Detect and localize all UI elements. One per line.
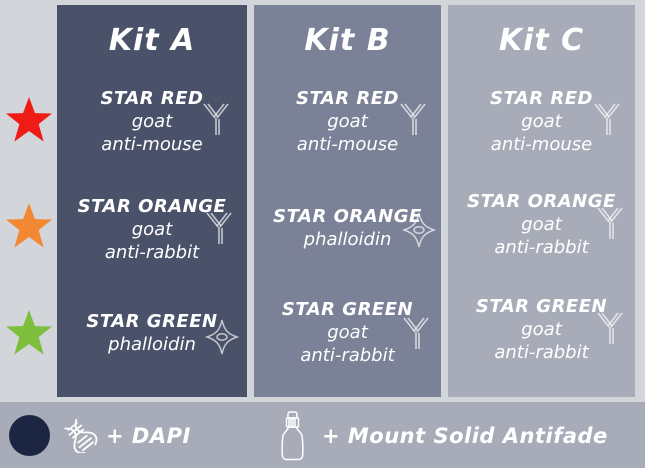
kit-b-title: Kit B [254, 23, 441, 58]
footer-bar: + DAPI + Mount Solid Antifade [0, 402, 645, 468]
kit-column-a[interactable]: Kit A STAR RED goat anti-mouse STAR ORAN… [57, 5, 247, 397]
antibody-icon [199, 101, 233, 139]
antibody-icon [396, 101, 430, 139]
antibody-icon [593, 310, 627, 348]
antibody-icon [590, 101, 624, 139]
dna-helix-icon [62, 419, 98, 453]
phalloidin-icon [205, 318, 239, 356]
star-green-marker [6, 310, 52, 356]
nucleus-dot-icon [9, 415, 50, 456]
phalloidin-icon [402, 211, 436, 249]
kit-comparison-figure: Kit A STAR RED goat anti-mouse STAR ORAN… [0, 0, 645, 468]
antibody-icon [399, 315, 433, 353]
antibody-icon [202, 210, 236, 248]
dropper-bottle-icon [276, 410, 309, 462]
antibody-icon [593, 205, 627, 243]
dapi-label: + DAPI [106, 424, 191, 448]
kit-c-title: Kit C [448, 23, 635, 58]
kit-a-title: Kit A [57, 23, 247, 58]
mount-antifade-label: + Mount Solid Antifade [322, 424, 608, 448]
star-red-marker [6, 97, 52, 143]
star-legend-column [0, 0, 57, 397]
star-orange-marker [6, 203, 52, 249]
kit-column-c[interactable]: Kit C STAR RED goat anti-mouse STAR ORAN… [448, 5, 635, 397]
kit-column-b[interactable]: Kit B STAR RED goat anti-mouse STAR ORAN… [254, 5, 441, 397]
